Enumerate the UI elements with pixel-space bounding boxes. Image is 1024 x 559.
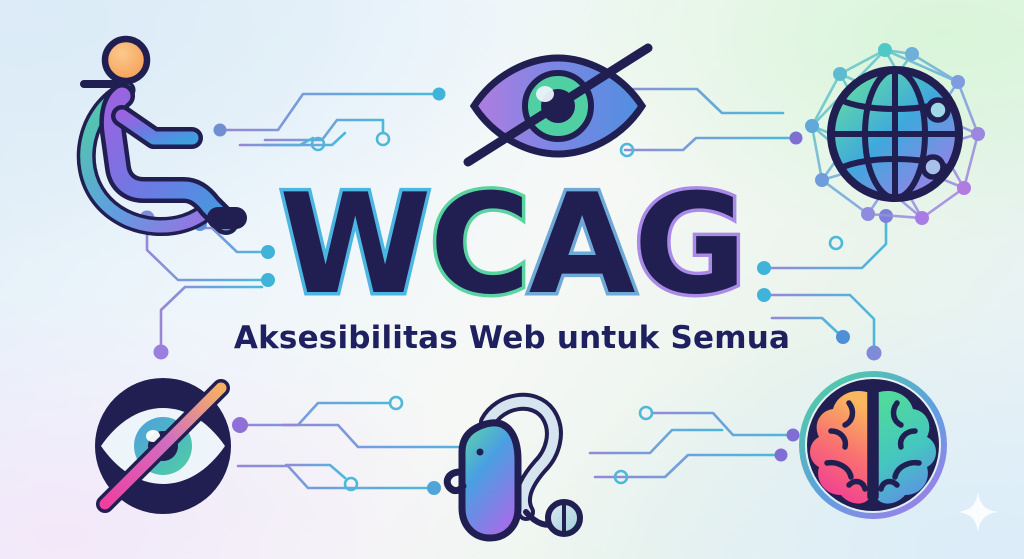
cognitive-brain-icon: [0, 0, 1024, 559]
sparkle-star: [958, 492, 998, 532]
wcag-banner: WCAG Aksesibilitas Web untuk Semua: [0, 0, 1024, 559]
